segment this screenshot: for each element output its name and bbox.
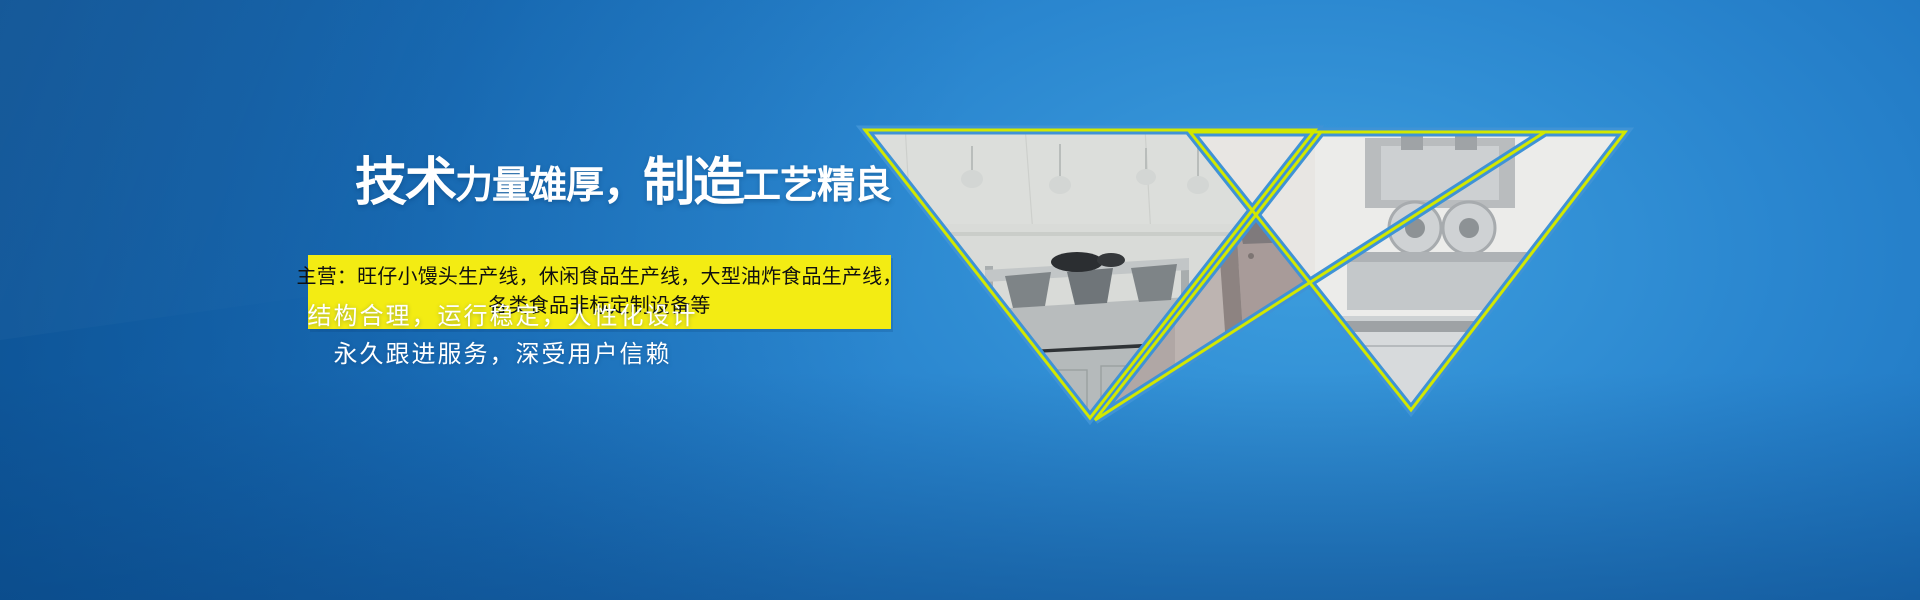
triangle-collage-svg bbox=[845, 120, 1625, 420]
headline-part1-small: 力量雄厚 bbox=[455, 165, 603, 207]
headline-part1-big: 技术 bbox=[355, 154, 455, 212]
headline-part2-small: 工艺精良 bbox=[743, 165, 891, 207]
subtitle-line-1: 结构合理，运行稳定，人性化设计 bbox=[0, 296, 900, 331]
triangle-photo-cluster bbox=[845, 120, 1625, 420]
highlight-line-1: 主营：旺仔小馒头生产线，休闲食品生产线，大型油炸食品生产线， bbox=[297, 263, 903, 292]
headline-part2-big: 制造 bbox=[643, 154, 743, 212]
headline-separator: ， bbox=[603, 159, 643, 208]
copy-column: 技术力量雄厚，制造工艺精良 主营：旺仔小馒头生产线，休闲食品生产线，大型油炸食品… bbox=[0, 0, 900, 600]
promo-banner: 技术力量雄厚，制造工艺精良 主营：旺仔小馒头生产线，休闲食品生产线，大型油炸食品… bbox=[0, 0, 1920, 600]
headline: 技术力量雄厚，制造工艺精良 bbox=[355, 157, 891, 209]
subtitle-line-2: 永久跟进服务，深受用户信赖 bbox=[0, 334, 900, 369]
